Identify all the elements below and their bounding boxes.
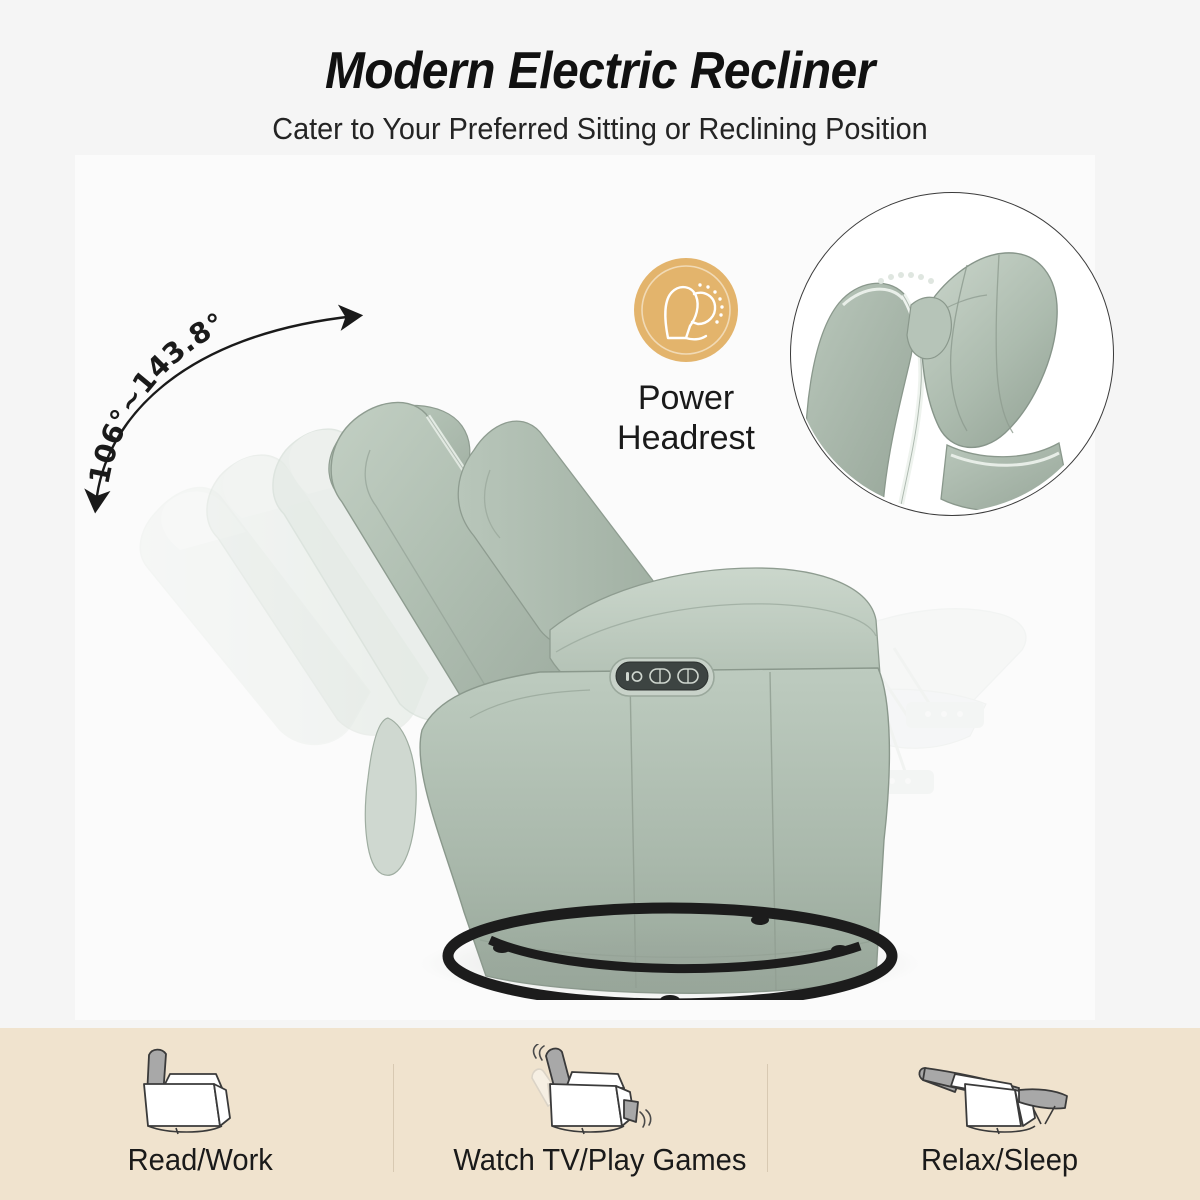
power-headrest-label: Power Headrest bbox=[570, 378, 802, 458]
power-headrest-badge bbox=[634, 258, 738, 362]
headrest-closeup-inset bbox=[790, 192, 1114, 516]
page-title: Modern Electric Recliner bbox=[48, 44, 1152, 99]
angle-range-label: 106°~143.8° bbox=[82, 306, 230, 487]
power-control-panel[interactable] bbox=[610, 658, 714, 696]
usage-mode-label-2: Relax/Sleep bbox=[921, 1142, 1078, 1178]
feature-label-line1: Power bbox=[570, 378, 802, 418]
usage-mode-label-1: Watch TV/Play Games bbox=[453, 1142, 746, 1178]
usage-mode-watch-tv[interactable]: Watch TV/Play Games bbox=[400, 1028, 800, 1200]
feature-label-line2: Headrest bbox=[570, 418, 802, 458]
usage-mode-read-work[interactable]: Read/Work bbox=[0, 1028, 400, 1200]
header: Modern Electric Recliner Cater to Your P… bbox=[0, 44, 1200, 147]
product-infographic: Modern Electric Recliner Cater to Your P… bbox=[0, 0, 1200, 1200]
recline-angle-annotation: 106°~143.8° bbox=[60, 270, 400, 530]
usage-mode-label-0: Read/Work bbox=[127, 1142, 272, 1178]
chair-flat-icon bbox=[915, 1044, 1085, 1136]
usage-mode-relax-sleep[interactable]: Relax/Sleep bbox=[800, 1028, 1200, 1200]
chair-upright-icon bbox=[130, 1044, 270, 1136]
usage-modes-strip: Read/Work bbox=[0, 1028, 1200, 1200]
power-headrest-feature: Power Headrest bbox=[570, 258, 802, 458]
page-subtitle: Cater to Your Preferred Sitting or Recli… bbox=[42, 111, 1158, 147]
chair-reclined-icon bbox=[520, 1044, 680, 1136]
swivel-paddle bbox=[365, 718, 416, 875]
power-headrest-icon bbox=[634, 258, 738, 362]
